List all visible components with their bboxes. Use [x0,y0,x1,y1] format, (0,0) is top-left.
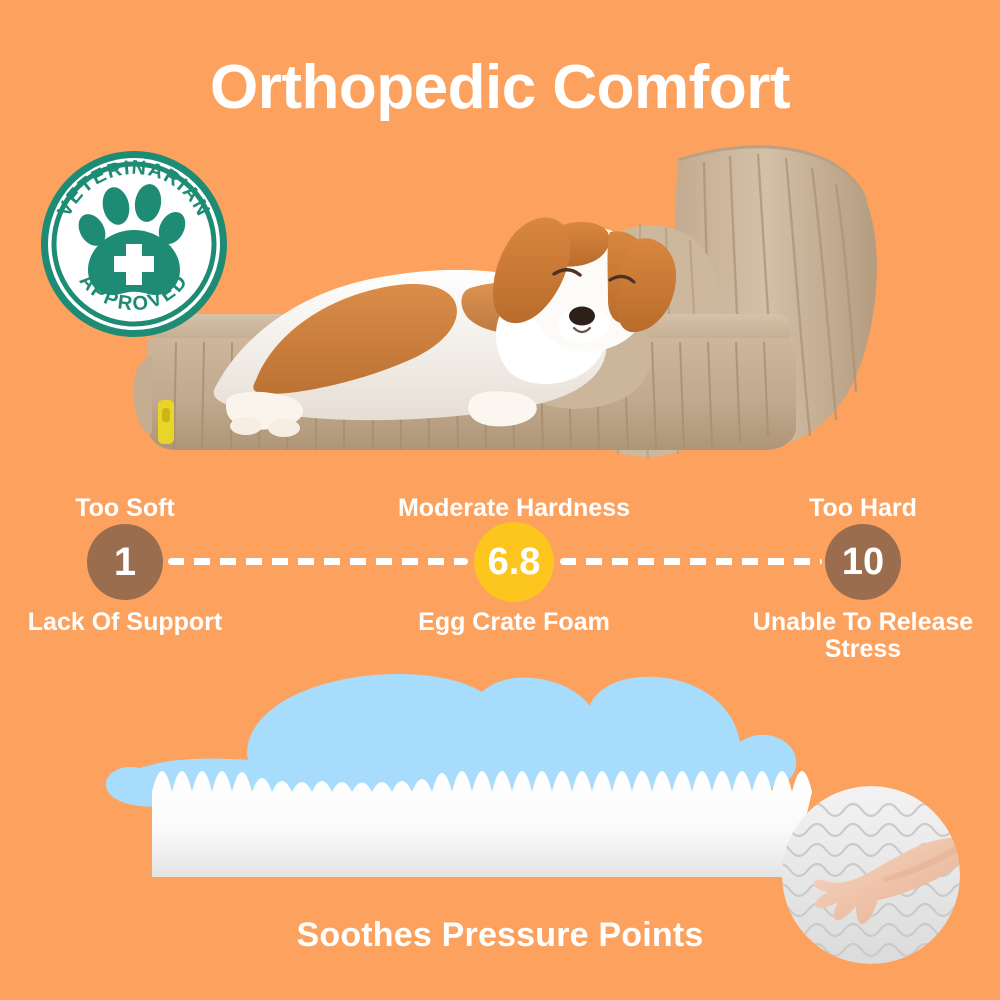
brand-tag [158,400,174,444]
scale-connector-left [168,558,468,565]
scale-node-top-label: Too Soft [75,494,175,523]
hero-product-photo [118,128,880,494]
bottom-caption: Soothes Pressure Points [0,916,1000,955]
scale-node-value-circle: 6.8 [474,522,554,602]
scale-node-value-circle: 1 [87,524,163,600]
scale-node-bottom-label: Egg Crate Foam [354,609,674,636]
scale-node-top-label: Moderate Hardness [398,494,630,523]
scale-connector-right [560,558,822,565]
scale-node-bottom-label: Lack Of Support [0,609,275,636]
infographic-canvas: Orthopedic Comfort [0,0,1000,1000]
scale-node-top-label: Too Hard [809,494,917,523]
veterinarian-approved-badge: VETERINARIAN APPROVED [38,148,230,340]
hardness-scale: Too Soft 1 Lack Of Support Moderate Hard… [0,494,1000,654]
page-title: Orthopedic Comfort [0,52,1000,123]
scale-node-value-circle: 10 [825,524,901,600]
